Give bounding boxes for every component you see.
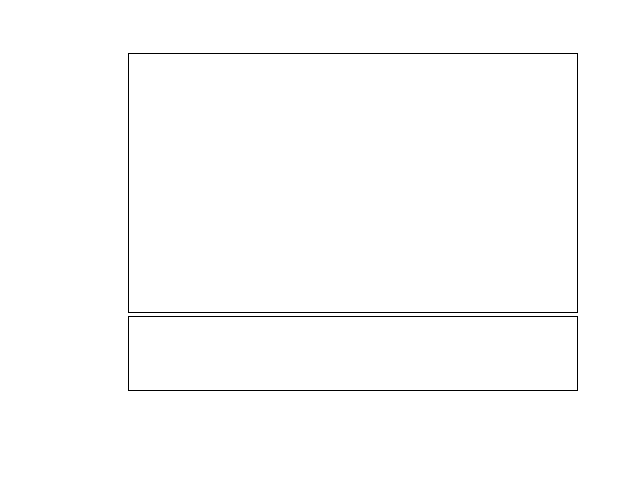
ipi-histogram-line (129, 317, 577, 390)
scatter-plot-axes (128, 53, 578, 313)
histogram-axes (128, 316, 578, 391)
matplotlib-figure (0, 0, 640, 480)
